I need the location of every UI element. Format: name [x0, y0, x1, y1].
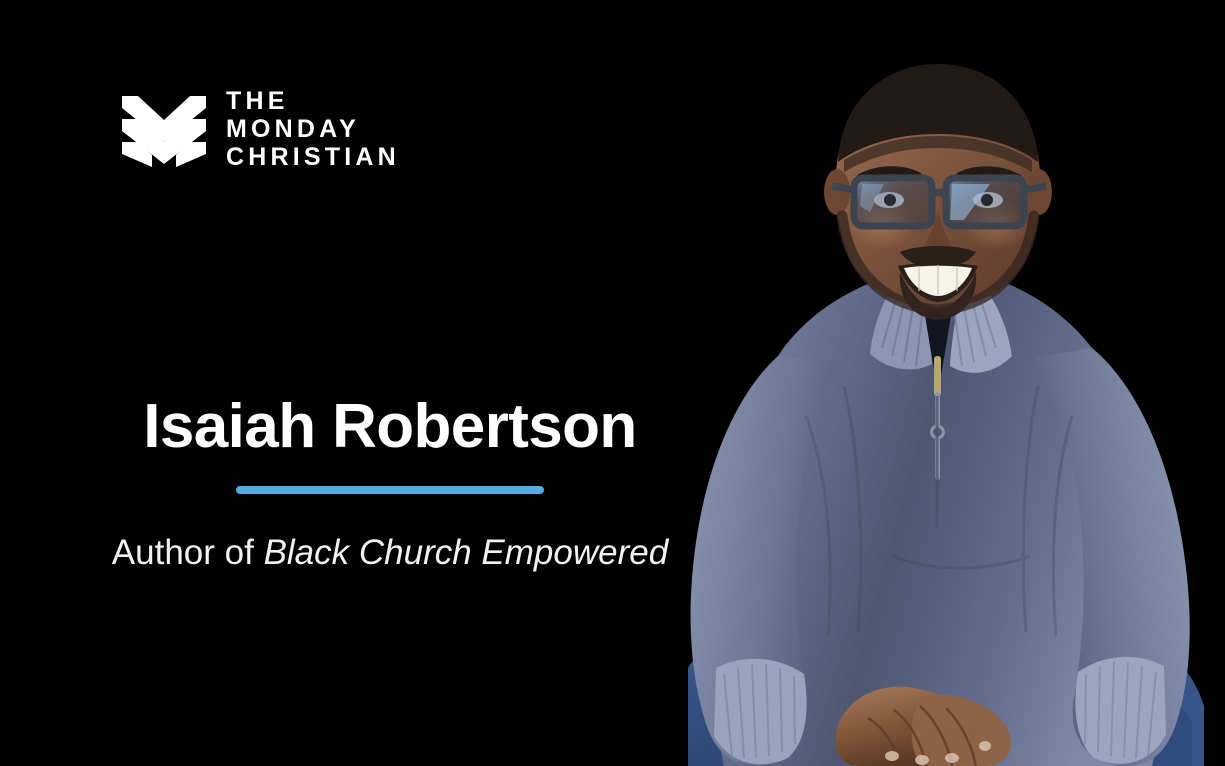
chevron-stack-logo-mark [120, 86, 208, 174]
sweater-cuff-left [714, 659, 807, 765]
accent-divider [236, 486, 544, 494]
speaker-portrait [592, 56, 1225, 766]
brand-wordmark: THE MONDAY CHRISTIAN [226, 86, 400, 171]
brand-logo: THE MONDAY CHRISTIAN [120, 86, 400, 174]
speaker-portrait-artwork [592, 56, 1225, 766]
sweater-cuff-right [1075, 657, 1166, 764]
wordmark-line-christian: CHRISTIAN [226, 143, 400, 171]
subtitle-prefix: Author of [112, 533, 264, 572]
speaker-card-slide: THE MONDAY CHRISTIAN Isaiah Robertson Au… [0, 0, 1225, 766]
wordmark-line-monday: MONDAY [226, 115, 400, 143]
wordmark-line-the: THE [226, 87, 400, 115]
